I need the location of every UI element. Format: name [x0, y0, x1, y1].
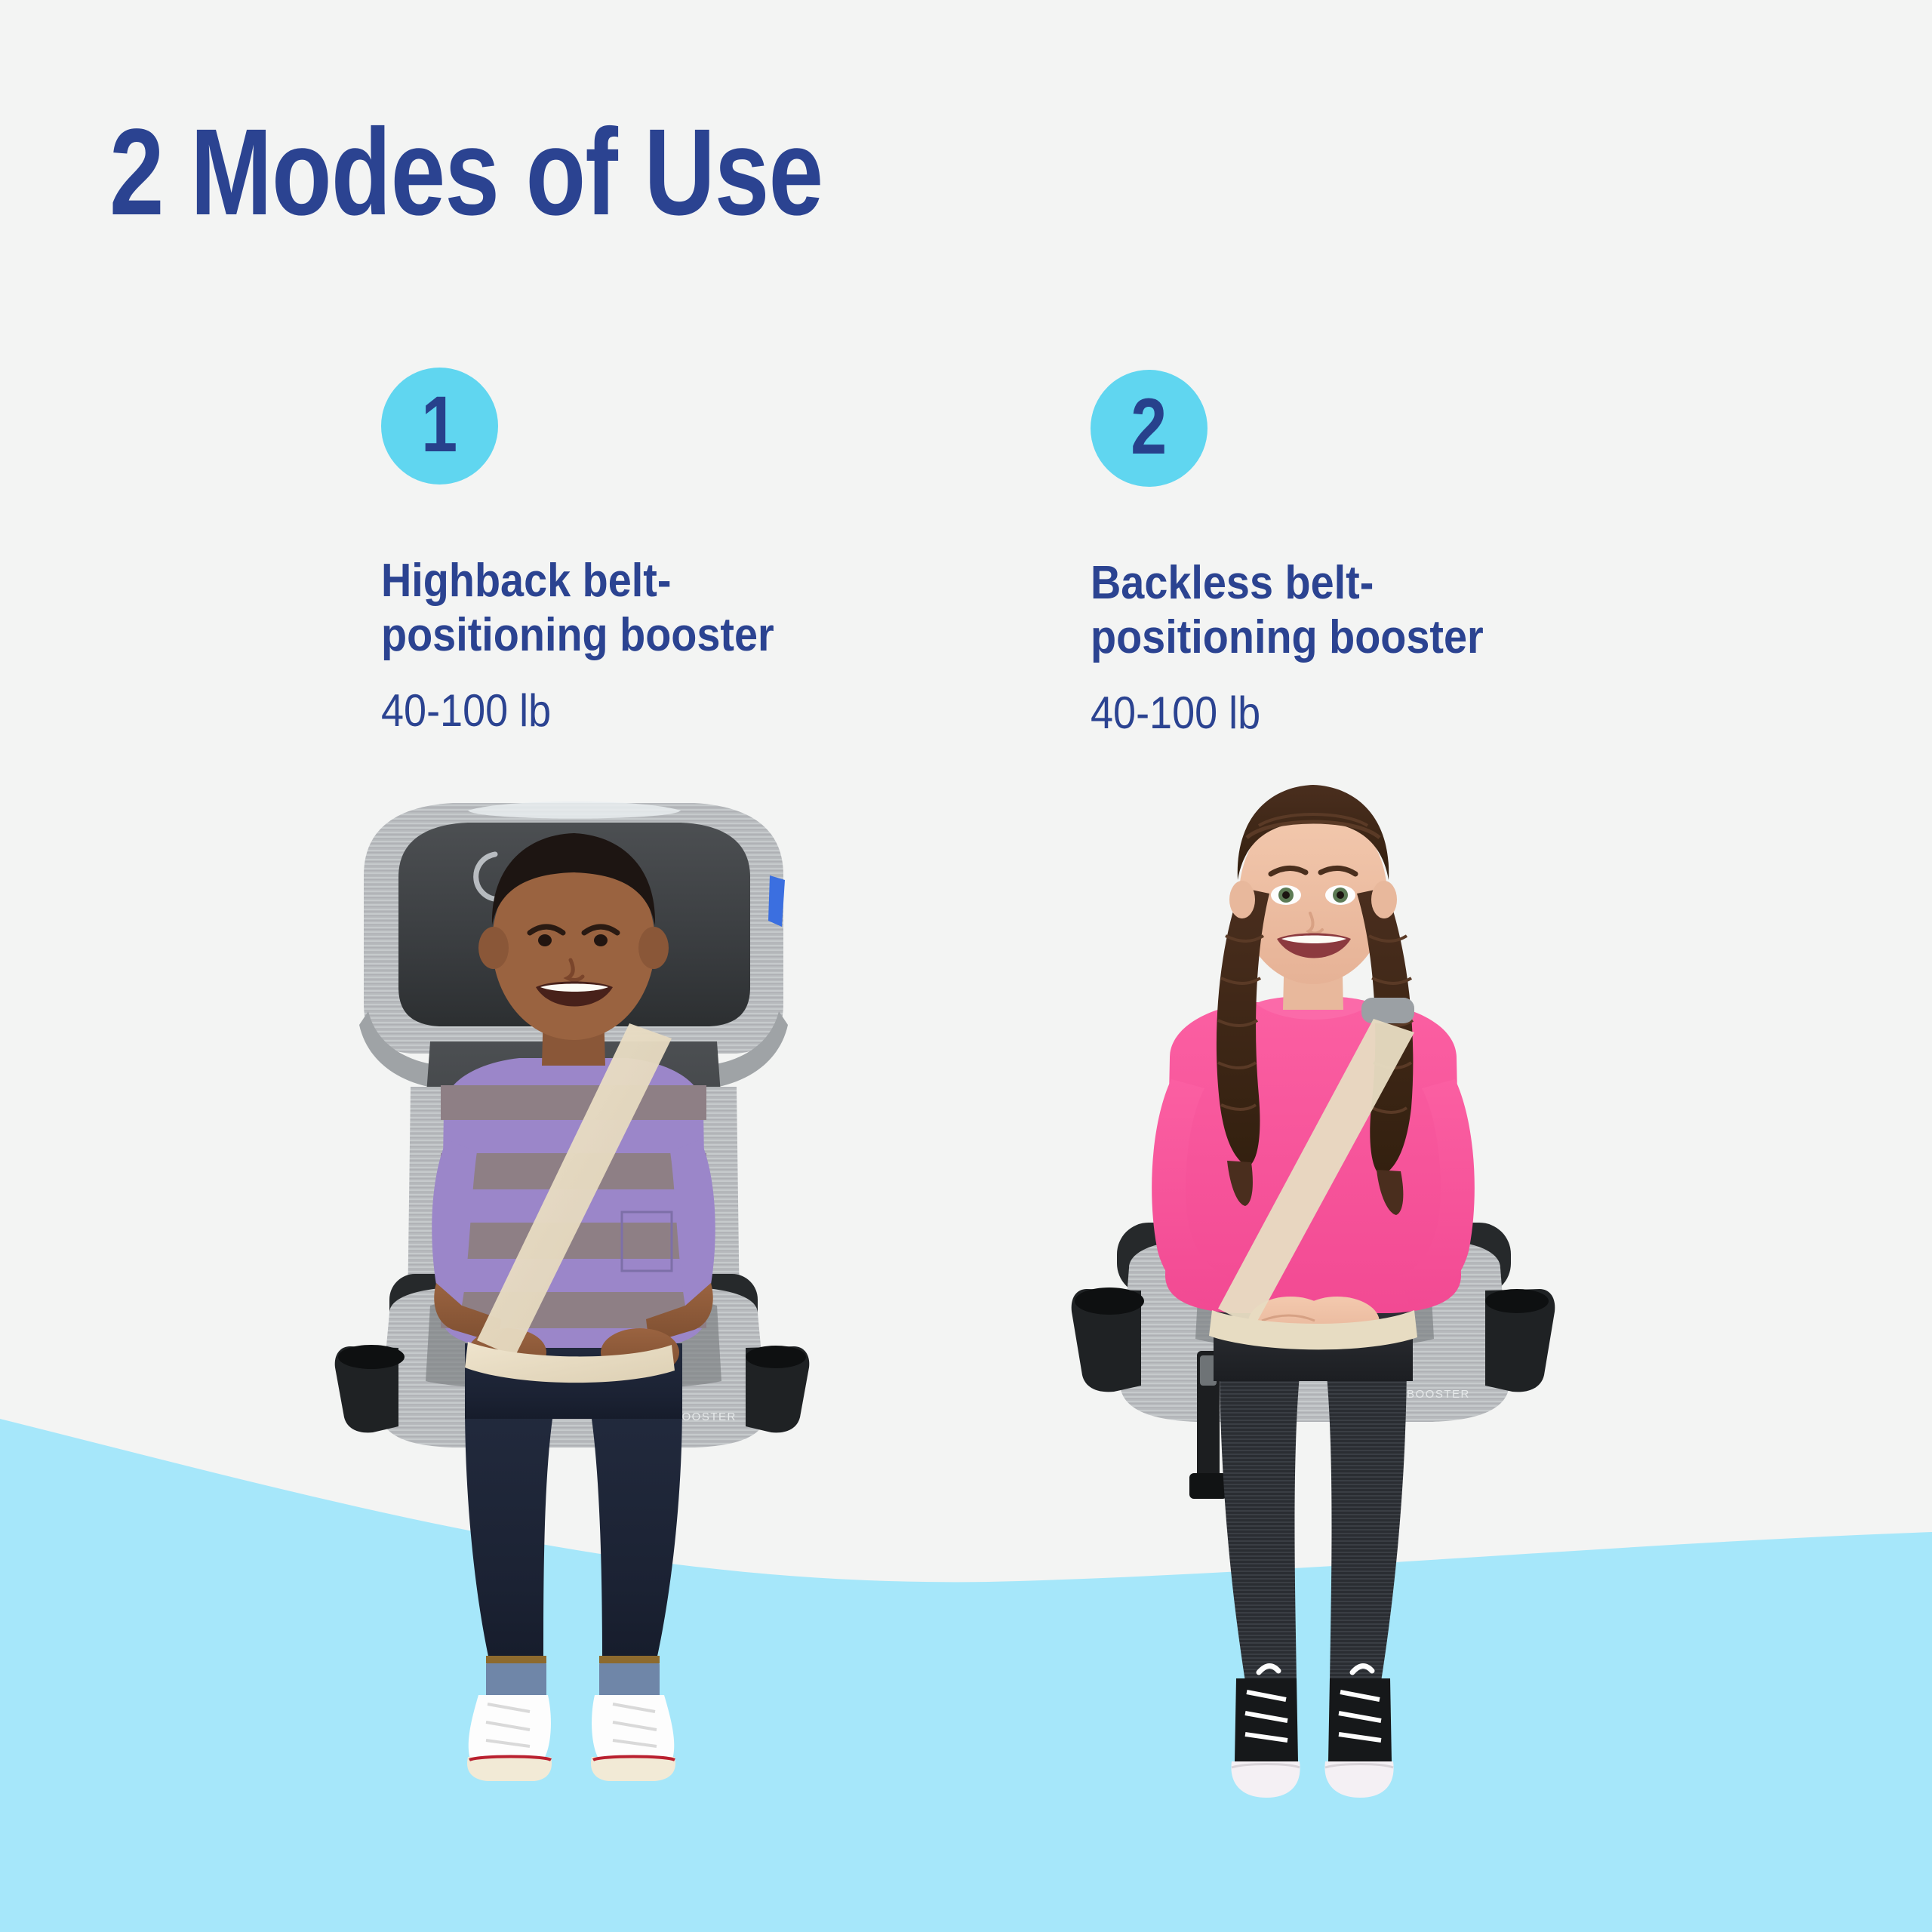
sneaker-left-1: [467, 1695, 552, 1781]
mode-weight-2: 40-100 lb: [1091, 688, 1577, 738]
sneaker-right-2: [1324, 1666, 1393, 1798]
bottom-wave-decoration: [0, 0, 1932, 1932]
step-number-1: 1: [422, 385, 458, 464]
mode-title-1: Highback belt-positioning booster: [381, 554, 868, 663]
step-badge-2: 2: [1091, 370, 1207, 487]
mode-weight-1: 40-100 lb: [381, 686, 868, 736]
photo-mode-1: TURBOBOOSTER: [317, 785, 830, 1811]
photo-mode-2: TURBOBOOSTER: [1057, 747, 1570, 1849]
mode-column-2: 2 Backless belt-positioning booster 40-1…: [1091, 370, 1574, 738]
sneaker-right-1: [591, 1695, 675, 1781]
step-number-2: 2: [1131, 387, 1168, 466]
step-badge-1: 1: [381, 368, 498, 485]
sneaker-left-2: [1231, 1666, 1300, 1798]
mode-title-2: Backless belt-positioning booster: [1091, 556, 1577, 665]
infographic-canvas: 2 Modes of Use 1 Highback belt-positioni…: [0, 0, 1932, 1932]
child-girl: [1152, 785, 1475, 1798]
mode-column-1: 1 Highback belt-positioning booster 40-1…: [381, 368, 864, 736]
belt-shoulder-clip: [1361, 998, 1414, 1023]
page-title: 2 Modes of Use: [109, 110, 823, 233]
